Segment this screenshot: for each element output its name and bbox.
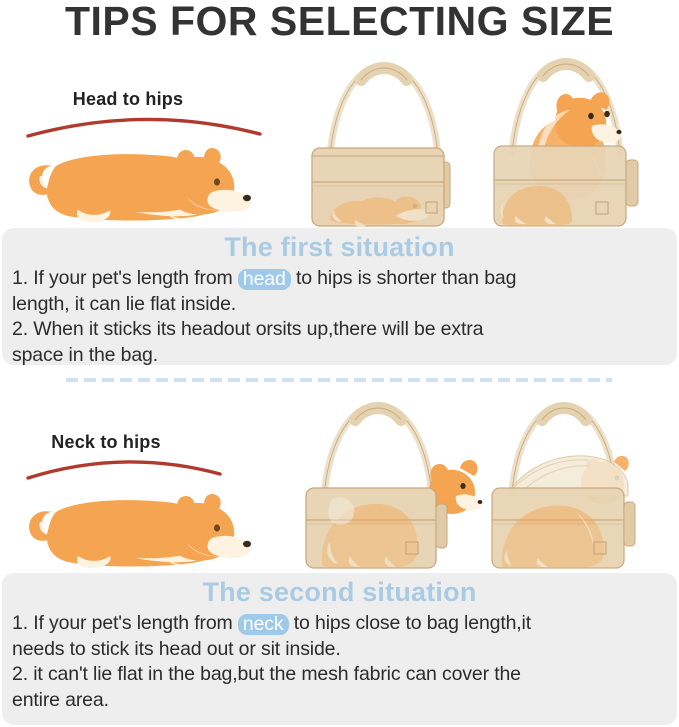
- panel-line: length, it can lie flat inside.: [12, 292, 672, 318]
- panel-line: space in the bag.: [12, 343, 672, 369]
- bag-dog-sitting-mesh-cover: [478, 392, 668, 579]
- panel-line: 1. If your pet's length from neck to hip…: [12, 611, 672, 637]
- panel-line: 2. When it sticks its headout orsits up,…: [12, 317, 672, 343]
- panel-line: needs to stick its head out or sit insid…: [12, 637, 672, 663]
- panel-line: 2. it can't lie flat in the bag,but the …: [12, 662, 672, 688]
- line-text: needs to stick its head out or sit insid…: [12, 638, 341, 660]
- illustration-row-second: Neck to hips: [0, 392, 679, 570]
- line-text: 2. When it sticks its headout orsits up,…: [12, 318, 483, 340]
- tips-infographic: TIPS FOR SELECTING SIZE Head to hips: [0, 0, 679, 727]
- line-text: 2. it can't lie flat in the bag,but the …: [12, 663, 521, 685]
- panel-body-second: 1. If your pet's length from neck to hip…: [12, 611, 672, 713]
- line-text: to hips is shorter than bag: [291, 267, 517, 289]
- panel-heading-second: The second situation: [2, 577, 677, 608]
- line-text: entire area.: [12, 689, 109, 711]
- section-divider: [66, 378, 612, 382]
- bag-dog-lying-flat: [300, 44, 480, 235]
- panel-line: 1. If your pet's length from head to hip…: [12, 266, 672, 292]
- bag-dog-head-out-side: [294, 392, 484, 579]
- measure-label-neck-to-hips: Neck to hips: [0, 432, 256, 453]
- line-text: to hips close to bag length,it: [289, 612, 532, 634]
- info-panel-first-situation: The first situation 1. If your pet's len…: [2, 228, 677, 365]
- dog-measure-diagram-neck-to-hips: Neck to hips: [0, 392, 300, 570]
- line-text: 1. If your pet's length from: [12, 612, 238, 634]
- dog-illustration-lying: [16, 132, 256, 224]
- panel-line: entire area.: [12, 688, 672, 714]
- line-text: length, it can lie flat inside.: [12, 293, 236, 315]
- panel-heading-first: The first situation: [2, 232, 677, 263]
- measure-label-head-to-hips: Head to hips: [0, 89, 278, 110]
- panel-body-first: 1. If your pet's length from head to hip…: [12, 266, 672, 368]
- line-text: space in the bag.: [12, 344, 158, 366]
- highlight-pill-neck: neck: [238, 614, 289, 635]
- dog-measure-diagram-head-to-hips: Head to hips: [0, 44, 300, 226]
- dog-illustration-lying: [16, 478, 256, 570]
- illustration-row-first: Head to hips: [0, 44, 679, 226]
- bag-dog-head-out-top: [480, 44, 660, 235]
- page-title: TIPS FOR SELECTING SIZE: [0, 0, 679, 45]
- line-text: 1. If your pet's length from: [12, 267, 238, 289]
- highlight-pill-head: head: [238, 269, 291, 290]
- info-panel-second-situation: The second situation 1. If your pet's le…: [2, 573, 677, 725]
